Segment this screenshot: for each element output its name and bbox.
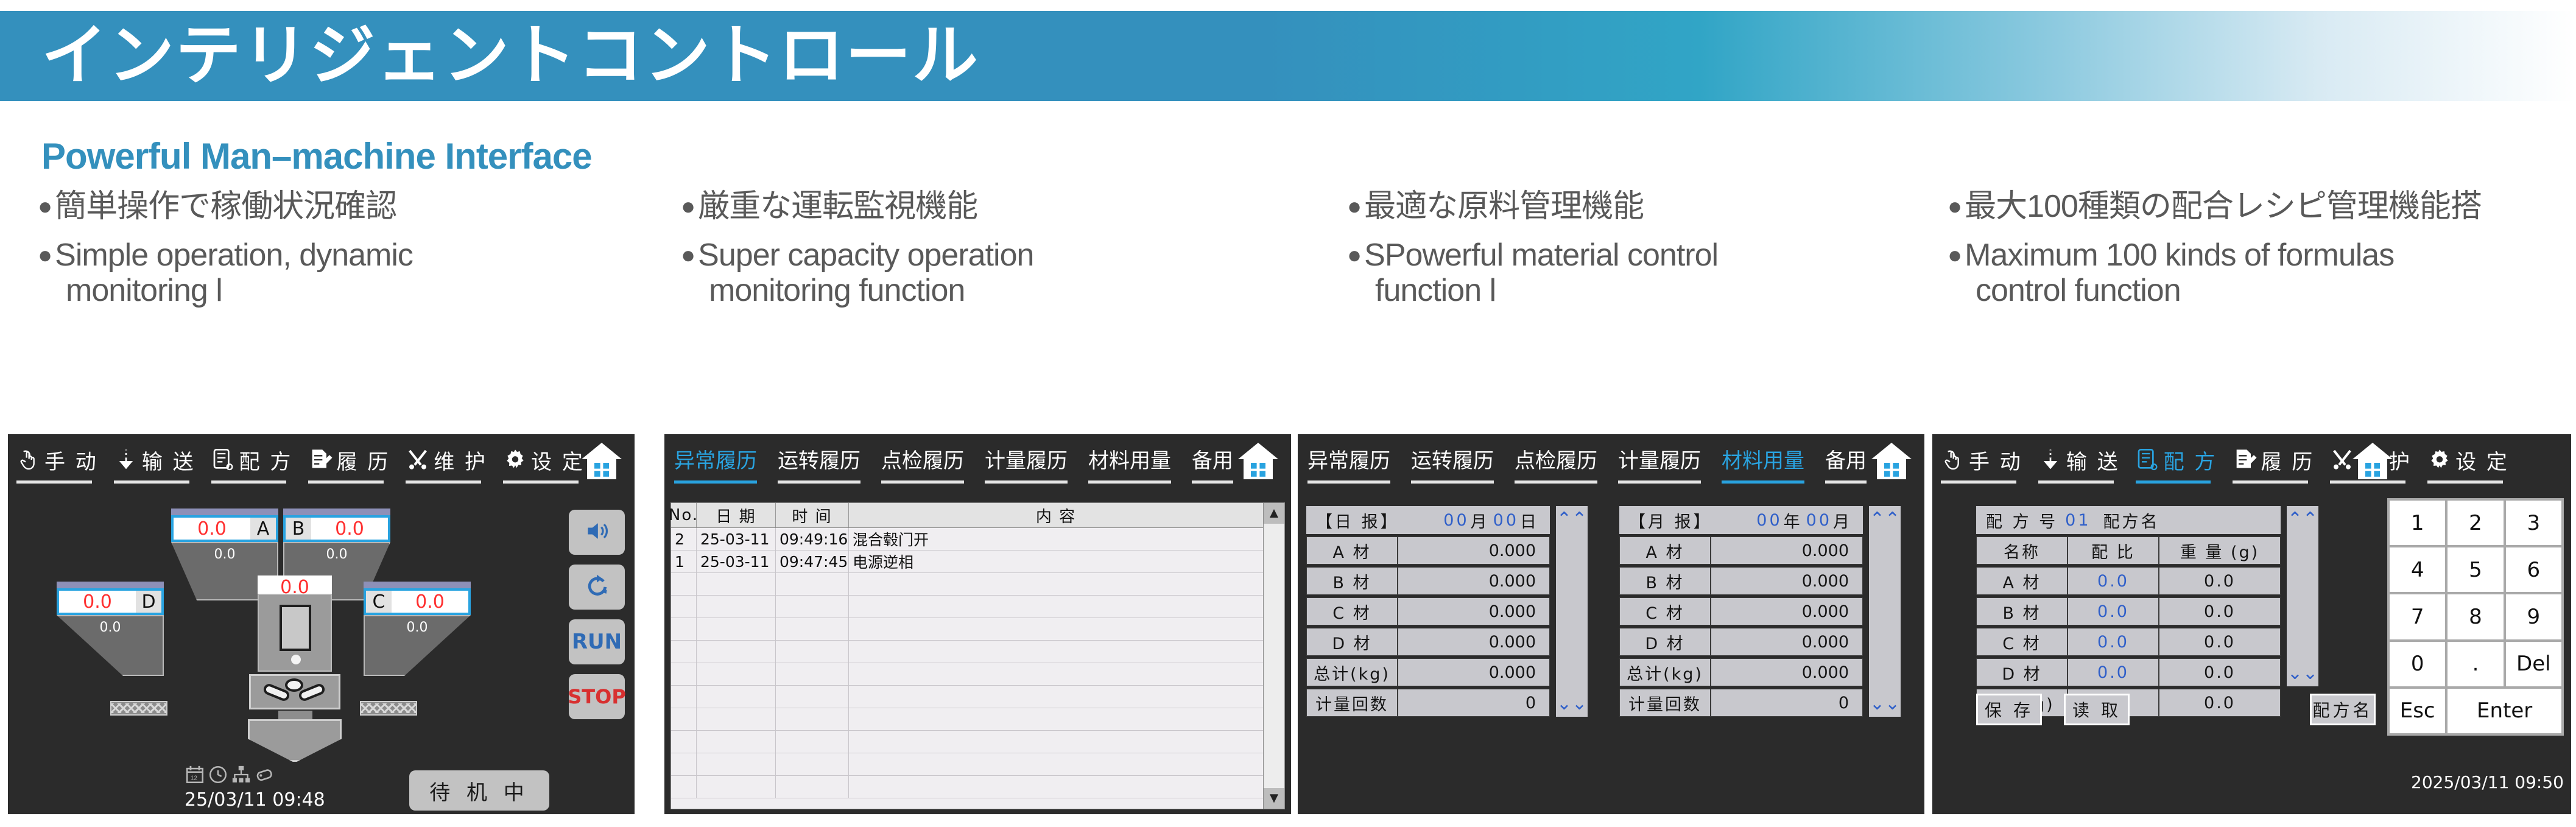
daily-row: B 材0.000	[1306, 567, 1550, 595]
bullet-icon: ●	[1948, 238, 1962, 273]
clock-icon	[208, 764, 228, 788]
feature-en-line2: control function	[1976, 273, 2482, 308]
toolbar-label: 配 方	[2164, 445, 2217, 475]
toolbar-label: 设 定	[531, 445, 585, 475]
tab-spare[interactable]: 备用	[1192, 444, 1233, 474]
gear-icon	[2427, 448, 2452, 472]
recipe-row: C 材 0.0 0.0	[1976, 628, 2281, 656]
scroll-up-icon[interactable]: ⌃⌃	[1557, 509, 1587, 530]
hopper-d-readout: 0.0 D	[57, 588, 164, 615]
toolbar-underline	[16, 480, 92, 484]
col-time: 时 间	[776, 503, 849, 527]
toolbar-item-settings[interactable]: 设 定	[503, 445, 585, 475]
toolbar-underline	[406, 480, 481, 484]
feature-jp-text: 最適な原料管理機能	[1364, 189, 1644, 224]
toolbar-item-recipe[interactable]: 配 方	[2136, 445, 2217, 475]
down-arrow-icon	[114, 448, 138, 472]
table-row[interactable]	[671, 776, 1263, 798]
daily-day-value[interactable]: 00	[1493, 511, 1519, 530]
monthly-report-card: 【月 报】 00 年 00 月 A 材0.000 B 材0.000 C 材0.0…	[1619, 506, 1863, 719]
daily-row: D 材0.000	[1306, 628, 1550, 656]
feature-column-2: ● 厳重な運転監視機能 ● Super capacity operation m…	[681, 189, 1033, 308]
hopper-c-readout: C 0.0	[364, 588, 471, 615]
bullet-icon: ●	[681, 189, 695, 224]
toolbar-underline	[211, 480, 287, 484]
cell-date: 25-03-11	[697, 551, 776, 572]
hopper-cap	[171, 509, 278, 515]
toolbar-item-history[interactable]: 履 历	[2233, 445, 2314, 475]
toolbar-label: 配 方	[239, 445, 293, 475]
cell-date: 25-03-11	[697, 528, 776, 550]
toolbar-label: 履 历	[2261, 445, 2314, 475]
hmi-screen-manual: 手 动 输 送 配 方 履 历 维 护	[6, 432, 636, 816]
bullet-icon: ●	[1347, 189, 1362, 224]
toolbar-label: 手 动	[44, 445, 98, 475]
feature-en-text: Simple operation, dynamic	[55, 238, 413, 273]
feature-en-line2: monitoring l	[66, 273, 413, 308]
hopper-c-value: 0.0	[392, 591, 468, 613]
recipe-row: B 材 0.0 0.0	[1976, 597, 2281, 625]
toolbar-label: 设 定	[2455, 445, 2509, 475]
hopper-b-sub: 0.0	[284, 547, 389, 562]
tab-material-usage[interactable]: 材料用量	[1722, 444, 1804, 474]
monthly-row: 计量回数0	[1619, 689, 1863, 717]
hopper-c-sub: 0.0	[365, 620, 470, 635]
col-name: 名称	[1976, 537, 2067, 565]
discharge-gate	[278, 711, 312, 719]
gear-icon	[503, 448, 527, 472]
hopper-b-tag: B	[286, 518, 311, 540]
bullet-icon: ●	[38, 189, 52, 224]
col-ratio: 配 比	[2067, 537, 2159, 565]
home-icon[interactable]	[1870, 438, 1913, 484]
feature-en-text2: control function	[1976, 273, 2181, 308]
screw-conveyor-c	[360, 701, 417, 716]
feature-en-text2: monitoring l	[66, 273, 222, 308]
monthly-report-title: 【月 报】 00 年 00 月	[1619, 506, 1863, 534]
tab-weighing-history[interactable]: 计量履历	[1618, 444, 1701, 474]
speaker-icon	[583, 518, 610, 547]
cell-no: 2	[671, 528, 697, 550]
mixer-vessel	[258, 594, 332, 672]
speaker-button[interactable]	[569, 510, 625, 555]
key-4[interactable]: 4	[2390, 547, 2445, 592]
hopper-d[interactable]: 0.0 D 0.0	[57, 582, 164, 676]
numeric-keypad[interactable]: 1 2 3 4 5 6 7 8 9 0 . Del Esc Enter	[2387, 498, 2564, 736]
run-label: RUN	[572, 630, 622, 654]
toolbar-item-settings[interactable]: 设 定	[2427, 445, 2509, 475]
table-scrollbar[interactable]: ▲ ▼	[1263, 503, 1284, 809]
key-7[interactable]: 7	[2390, 594, 2445, 639]
table-row[interactable]	[671, 708, 1263, 731]
table-row[interactable]	[671, 663, 1263, 686]
toolbar-underline	[308, 480, 384, 484]
toolbar-item-manual[interactable]: 手 动	[1941, 445, 2022, 475]
hand-touch-icon	[1941, 448, 1965, 472]
load-button[interactable]: 读 取	[2064, 694, 2130, 725]
daily-row: C 材0.000	[1306, 597, 1550, 625]
hmi-screen-alarm-history: 异常履历 运转履历 点检履历 计量履历 材料用量 备用 No. 日 期 时 间 …	[663, 432, 1293, 816]
scroll-down-icon[interactable]: ⌄⌄	[1557, 693, 1587, 714]
col-date: 日 期	[697, 503, 776, 527]
monthly-scroll-buttons[interactable]: ⌃⌃ ⌄⌄	[1869, 506, 1901, 717]
hopper-cap	[57, 582, 164, 588]
key-6[interactable]: 6	[2506, 547, 2561, 592]
log-doc-icon	[308, 448, 333, 472]
recipe-row: D 材 0.0 0.0	[1976, 658, 2281, 686]
key-5[interactable]: 5	[2448, 547, 2503, 592]
panel4-toolbar: 手 动 输 送 配 方 履 历 维 护	[1932, 434, 2571, 500]
daily-report-title: 【日 报】 00 月 00 日	[1306, 506, 1550, 534]
save-button[interactable]: 保 存	[1976, 694, 2042, 725]
home-icon[interactable]	[580, 438, 624, 484]
feature-en-text: Maximum 100 kinds of formulas	[1965, 238, 2394, 273]
screw-conveyor-d	[110, 701, 167, 716]
tools-icon	[406, 448, 430, 472]
key-3[interactable]: 3	[2506, 501, 2561, 545]
tab-operation-history[interactable]: 运转履历	[778, 444, 860, 474]
key-delete[interactable]: Del	[2506, 642, 2561, 686]
page-title: インテリジェントコントロール	[41, 19, 979, 93]
discharge-chute	[248, 719, 342, 762]
table-row[interactable]	[671, 573, 1263, 596]
scroll-down-icon[interactable]: ⌄⌄	[2287, 663, 2318, 684]
feature-column-1: ● 簡単操作で稼働状況確認 ● Simple operation, dynami…	[38, 189, 413, 308]
tab-alarm-history[interactable]: 异常履历	[674, 444, 757, 474]
cell-content: 混合毂门开	[849, 528, 1263, 550]
hopper-d-tag: D	[136, 591, 161, 613]
panel2-tabbar: 异常履历 运转履历 点检履历 计量履历 材料用量 备用	[664, 434, 1291, 500]
table-row[interactable]	[671, 753, 1263, 776]
key-1[interactable]: 1	[2390, 501, 2445, 545]
table-header-row: No. 日 期 时 间 内 容	[671, 503, 1263, 528]
daily-row: A 材0.000	[1306, 537, 1550, 565]
hand-touch-icon	[16, 448, 41, 472]
feature-en-text2: function l	[1375, 273, 1496, 308]
recipe-row: A 材 0.0 0.0	[1976, 567, 2281, 595]
recipe-doc-icon	[211, 448, 236, 472]
tab-spare[interactable]: 备用	[1825, 444, 1867, 474]
recipe-column-header: 名称 配 比 重 量 (g)	[1976, 537, 2281, 565]
hmi-screen-material-usage: 异常履历 运转履历 点检履历 计量履历 材料用量 备用 【日 报】 00 月 0…	[1296, 432, 1926, 816]
home-icon[interactable]	[1236, 438, 1280, 484]
daily-month-value[interactable]: 00	[1443, 511, 1469, 530]
tab-inspection-history[interactable]: 点检履历	[881, 444, 964, 474]
recipe-scroll-buttons[interactable]: ⌃⌃ ⌄⌄	[2287, 506, 2318, 686]
key-9[interactable]: 9	[2506, 594, 2561, 639]
key-escape[interactable]: Esc	[2390, 689, 2445, 733]
feature-en-text: SPowerful material control	[1364, 238, 1718, 273]
key-8[interactable]: 8	[2448, 594, 2503, 639]
daily-scroll-buttons[interactable]: ⌃⌃ ⌄⌄	[1556, 506, 1588, 717]
scroll-up-button[interactable]: ▲	[1264, 503, 1284, 524]
cell-no: 1	[671, 551, 697, 572]
monthly-row: C 材0.000	[1619, 597, 1863, 625]
key-0[interactable]: 0	[2390, 642, 2445, 686]
log-doc-icon	[2233, 448, 2257, 472]
recipe-header: 配 方 号 01 配方名	[1976, 506, 2281, 534]
daily-report-card: 【日 报】 00 月 00 日 A 材0.000 B 材0.000 C 材0.0…	[1306, 506, 1550, 719]
hopper-d-value: 0.0	[59, 591, 136, 613]
scroll-up-icon[interactable]: ⌃⌃	[2287, 509, 2318, 530]
feature-en-line1: ● Maximum 100 kinds of formulas	[1948, 238, 2482, 273]
feature-jp-line: ● 簡単操作で稼働状況確認	[38, 189, 413, 224]
network-icon	[231, 764, 252, 788]
feature-jp-text: 最大100種類の配合レシピ管理機能搭	[1965, 189, 2482, 224]
key-enter[interactable]: Enter	[2448, 689, 2561, 733]
toolbar-item-transport[interactable]: 输 送	[2038, 445, 2120, 475]
feature-jp-line: ● 最適な原料管理機能	[1347, 189, 1718, 224]
hopper-c-body: 0.0	[364, 615, 471, 676]
monthly-year-value[interactable]: 00	[1756, 511, 1782, 530]
cell-content: 电源逆相	[849, 551, 1263, 572]
alarm-log-table: No. 日 期 时 间 内 容 2 25-03-11 09:49:16 混合毂门…	[670, 502, 1285, 809]
hopper-d-sub: 0.0	[58, 620, 163, 635]
hopper-cap	[283, 509, 390, 515]
feature-jp-text: 厳重な運転監視機能	[698, 189, 977, 224]
toolbar-label: 履 历	[336, 445, 390, 475]
feature-en-text: Super capacity operation	[698, 238, 1033, 273]
bullet-icon: ●	[681, 238, 695, 273]
hopper-b-readout: B 0.0	[283, 515, 390, 542]
scroll-down-icon[interactable]: ⌄⌄	[1870, 693, 1900, 714]
system-status-bar: 12 25/03/11 09:48	[185, 764, 325, 811]
hopper-d-body: 0.0	[57, 615, 164, 676]
toolbar-label: 输 送	[2066, 445, 2120, 475]
stop-label: STOP	[568, 685, 626, 708]
monthly-row: B 材0.000	[1619, 567, 1863, 595]
feature-column-3: ● 最適な原料管理機能 ● SPowerful material control…	[1347, 189, 1718, 308]
key-2[interactable]: 2	[2448, 501, 2503, 545]
recipe-name-label: 配方名	[2103, 509, 2160, 532]
hopper-a-sub: 0.0	[172, 547, 277, 562]
scroll-down-button[interactable]: ▼	[1264, 788, 1284, 809]
mixer-agitator	[249, 674, 340, 709]
col-no: No.	[671, 503, 697, 527]
bullet-icon: ●	[38, 238, 52, 273]
table-row[interactable]: 2 25-03-11 09:49:16 混合毂门开	[671, 528, 1263, 551]
panel4-system-time: 2025/03/11 09:50	[2393, 772, 2564, 792]
hopper-a-readout: 0.0 A	[171, 515, 278, 542]
toolbar-underline	[503, 480, 579, 484]
table-row[interactable]	[671, 641, 1263, 663]
recipe-name-button[interactable]: 配方名	[2310, 694, 2376, 725]
recipe-card: 配 方 号 01 配方名 名称 配 比 重 量 (g) A 材 0.0 0.0 …	[1976, 506, 2281, 719]
page-subtitle: Powerful Man–machine Interface	[41, 135, 592, 177]
down-arrow-icon	[2038, 448, 2063, 472]
daily-row: 计量回数0	[1306, 689, 1550, 717]
svg-text:12: 12	[191, 775, 198, 782]
feature-column-4: ● 最大100種類の配合レシピ管理機能搭 ● Maximum 100 kinds…	[1948, 189, 2482, 308]
recipe-no-label: 配 方 号	[1986, 509, 2058, 532]
calendar-icon: 12	[185, 764, 205, 788]
hopper-a-tag: A	[250, 518, 276, 540]
daily-row: 总计(kg)0.000	[1306, 658, 1550, 686]
cell-time: 09:47:45	[776, 551, 849, 572]
hopper-c[interactable]: C 0.0 0.0	[364, 582, 471, 676]
feature-en-line1: ● Simple operation, dynamic	[38, 238, 413, 273]
col-content: 内 容	[849, 503, 1263, 527]
hopper-b-value: 0.0	[311, 518, 388, 540]
table-row[interactable]	[671, 686, 1263, 708]
panel3-tabbar: 异常履历 运转履历 点检履历 计量履历 材料用量 备用	[1298, 434, 1924, 500]
bullet-icon: ●	[1948, 189, 1962, 224]
hopper-cap	[364, 582, 471, 588]
bullet-icon: ●	[1347, 238, 1362, 273]
toolbar-item-manual[interactable]: 手 动	[16, 445, 98, 475]
toolbar-item-recipe[interactable]: 配 方	[211, 445, 293, 475]
system-time: 25/03/11 09:48	[185, 789, 325, 811]
hopper-a-value: 0.0	[174, 518, 250, 540]
mixer-outlet-icon	[291, 655, 301, 664]
feature-jp-text: 簡単操作で稼働状況確認	[55, 189, 396, 224]
toolbar-label: 输 送	[142, 445, 195, 475]
key-decimal[interactable]: .	[2448, 642, 2503, 686]
monthly-month-value[interactable]: 00	[1806, 511, 1832, 530]
toolbar-item-maintenance[interactable]: 维 护	[406, 445, 487, 475]
machine-mode-button[interactable]: 待 机 中	[409, 770, 549, 811]
feature-en-line2: monitoring function	[709, 273, 1033, 308]
table-row[interactable]	[671, 731, 1263, 753]
toolbar-label: 维 护	[434, 445, 487, 475]
tab-weighing-history[interactable]: 计量履历	[985, 444, 1068, 474]
monthly-row: 总计(kg)0.000	[1619, 658, 1863, 686]
feature-jp-line: ● 最大100種類の配合レシピ管理機能搭	[1948, 189, 2482, 224]
table-row[interactable]: 1 25-03-11 09:47:45 电源逆相	[671, 551, 1263, 573]
tab-inspection-history[interactable]: 点检履历	[1515, 444, 1597, 474]
refresh-icon	[583, 572, 610, 602]
home-icon[interactable]	[2351, 438, 2395, 484]
table-row[interactable]	[671, 596, 1263, 618]
refresh-button[interactable]	[569, 565, 625, 610]
toolbar-label: 手 动	[1969, 445, 2022, 475]
tab-material-usage[interactable]: 材料用量	[1088, 444, 1171, 474]
scroll-up-icon[interactable]: ⌃⌃	[1870, 509, 1900, 530]
col-weight: 重 量 (g)	[2159, 537, 2281, 565]
stop-button[interactable]: STOP	[569, 674, 625, 719]
tab-alarm-history[interactable]: 异常履历	[1307, 444, 1390, 474]
mixer-door	[280, 605, 311, 651]
hopper-c-tag: C	[366, 591, 392, 613]
toolbar-item-transport[interactable]: 输 送	[114, 445, 195, 475]
feature-en-line1: ● SPowerful material control	[1347, 238, 1718, 273]
feature-en-line2: function l	[1375, 273, 1718, 308]
feature-en-line1: ● Super capacity operation	[681, 238, 1033, 273]
cell-time: 09:49:16	[776, 528, 849, 550]
panel1-toolbar: 手 动 输 送 配 方 履 历 维 护	[8, 434, 635, 500]
table-row[interactable]	[671, 618, 1263, 641]
recipe-doc-icon	[2136, 448, 2160, 472]
recipe-no-value[interactable]: 01	[2065, 511, 2091, 530]
usb-icon	[254, 764, 275, 788]
toolbar-item-history[interactable]: 履 历	[308, 445, 390, 475]
feature-jp-line: ● 厳重な運転監視機能	[681, 189, 1033, 224]
monthly-row: A 材0.000	[1619, 537, 1863, 565]
toolbar-underline	[114, 480, 189, 484]
tab-operation-history[interactable]: 运转履历	[1411, 444, 1494, 474]
run-button[interactable]: RUN	[569, 619, 625, 664]
feature-en-text2: monitoring function	[709, 273, 965, 308]
monthly-row: D 材0.000	[1619, 628, 1863, 656]
